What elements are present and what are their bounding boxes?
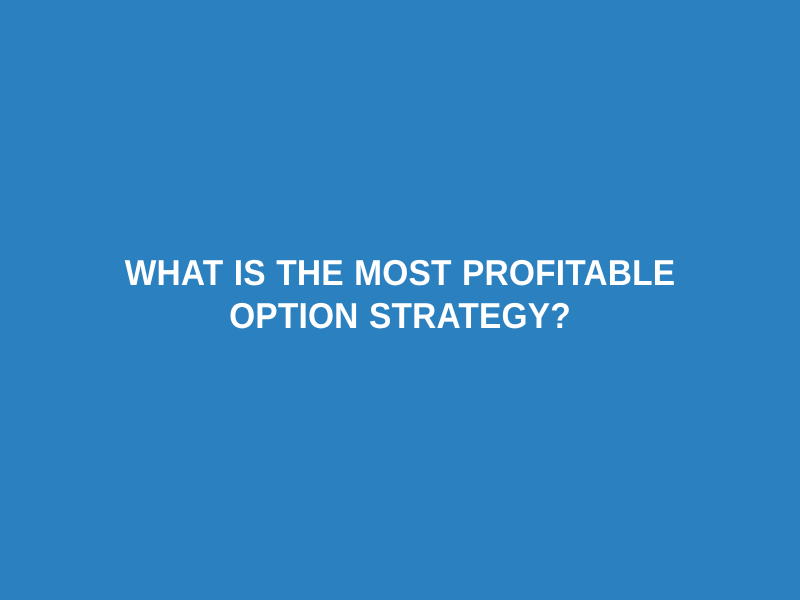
headline-block: WHAT IS THE MOST PROFITABLE OPTION STRAT…: [50, 251, 750, 337]
banner-background: WHAT IS THE MOST PROFITABLE OPTION STRAT…: [0, 0, 800, 600]
page-title: WHAT IS THE MOST PROFITABLE OPTION STRAT…: [75, 251, 726, 337]
